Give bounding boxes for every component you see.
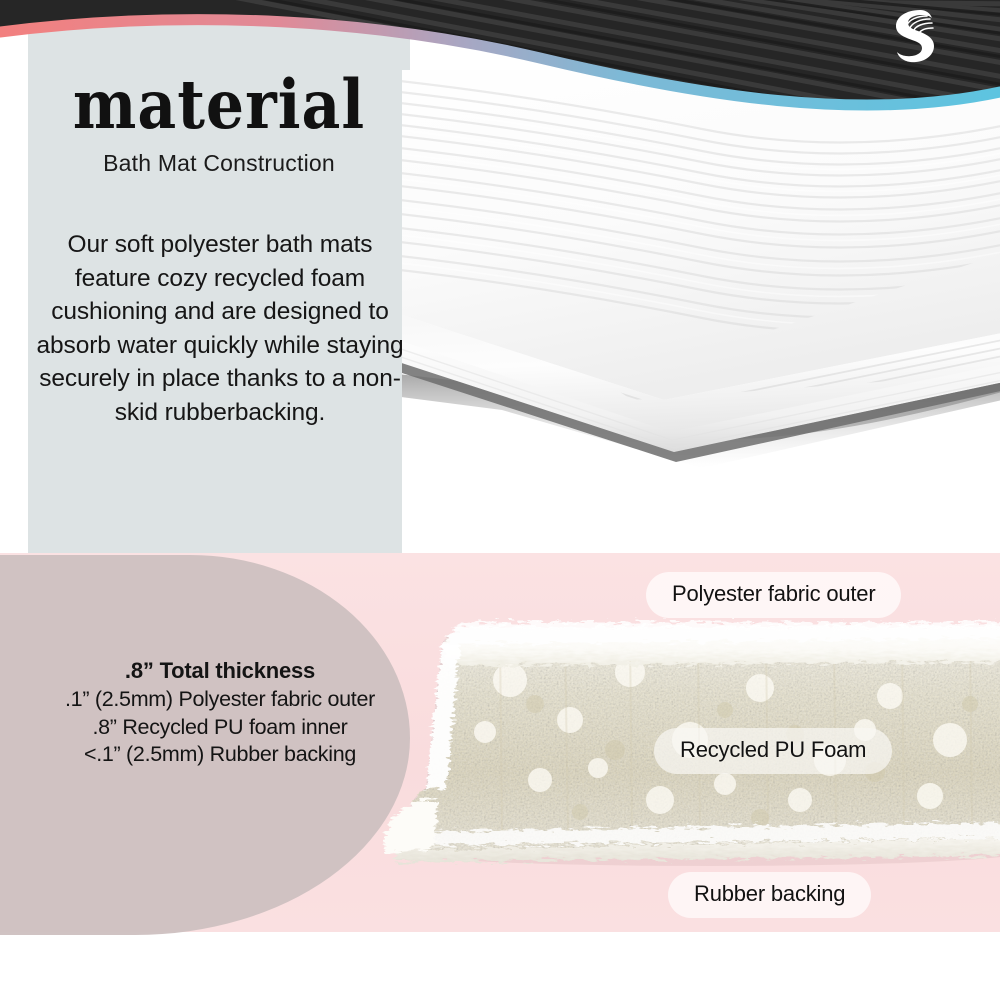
callout-recycled-pu-foam: Recycled PU Foam [654,728,892,774]
swoosh-s-logo-icon [880,4,940,66]
title-block: material Bath Mat Construction [28,72,410,177]
spec-line-fabric: .1” (2.5mm) Polyester fabric outer [20,686,420,714]
callout-rubber-backing: Rubber backing [668,872,871,918]
callout-polyester-fabric-outer: Polyester fabric outer [646,572,901,618]
page-subtitle: Bath Mat Construction [28,150,410,177]
bath-mat-corner-photo [402,70,1000,560]
spec-total-thickness: .8” Total thickness [20,658,420,684]
intro-paragraph: Our soft polyester bath mats feature coz… [34,228,406,429]
spec-line-rubber: <.1” (2.5mm) Rubber backing [20,741,420,769]
infographic-canvas: material Bath Mat Construction Our soft … [0,0,1000,1000]
thickness-spec-block: .8” Total thickness .1” (2.5mm) Polyeste… [20,658,420,769]
page-title: material [28,72,410,139]
spec-line-foam: .8” Recycled PU foam inner [20,714,420,742]
